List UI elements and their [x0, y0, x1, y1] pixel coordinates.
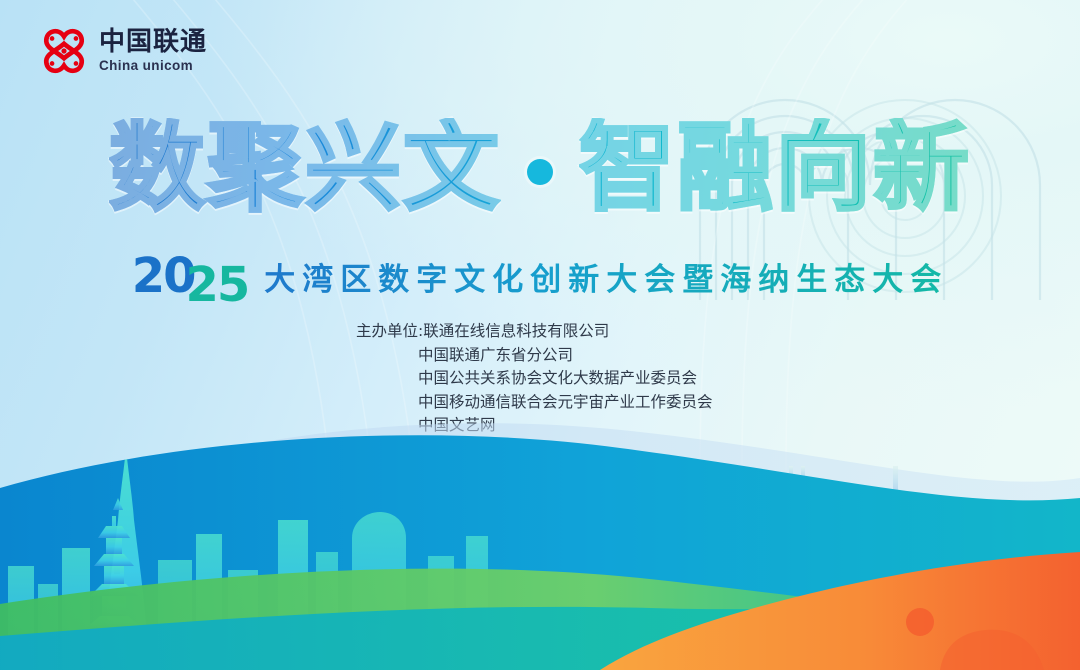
poster-canvas: 中国联通 China unicom 数聚兴文 智融向新 2025 大湾区数字文化…	[0, 0, 1080, 670]
subtitle-text: 大湾区数字文化创新大会暨海纳生态大会	[264, 254, 948, 299]
title-part-a: 数聚兴文	[109, 118, 501, 220]
organizer-line: 中国联通广东省分公司	[356, 344, 713, 368]
brand-name-cn: 中国联通	[99, 29, 207, 55]
organizer-item: 联通在线信息科技有限公司	[423, 322, 609, 340]
organizer-line: 主办单位:联通在线信息科技有限公司	[356, 320, 713, 344]
brand-name-en: China unicom	[99, 59, 207, 73]
china-unicom-logo-icon	[38, 26, 90, 76]
subtitle-row: 2025 大湾区数字文化创新大会暨海纳生态大会	[0, 252, 1080, 300]
brand-logo: 中国联通 China unicom	[38, 26, 207, 76]
title-separator-dot	[527, 159, 553, 185]
organizer-item: 中国联通广东省分公司	[418, 346, 573, 364]
bottom-scene-illustration	[0, 370, 1080, 670]
organizer-label: 主办单位:	[356, 322, 423, 340]
accent-dot	[906, 608, 934, 636]
event-year: 2025	[132, 252, 249, 300]
event-year-second: 25	[186, 261, 249, 309]
title-part-b: 智融向新	[579, 118, 971, 220]
main-title: 数聚兴文 智融向新	[0, 118, 1080, 220]
brand-wordmark: 中国联通 China unicom	[99, 29, 207, 73]
